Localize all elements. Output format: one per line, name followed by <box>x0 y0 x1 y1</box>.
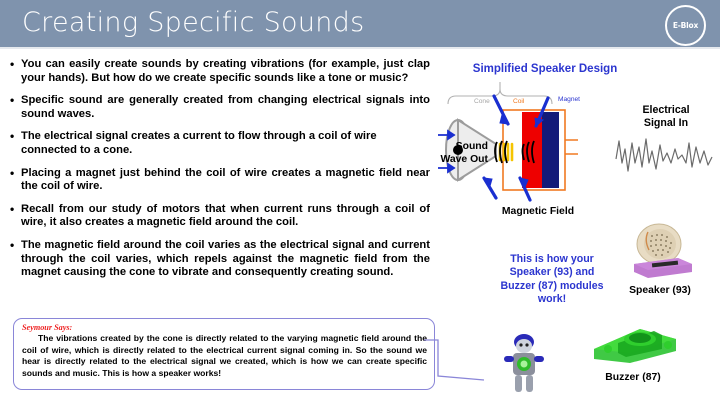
module-message-text: This is how your Speaker (93) and Buzzer… <box>494 253 610 307</box>
bullet-item: • Specific sound are generally created f… <box>10 94 430 121</box>
bullet-dot-icon: • <box>10 130 21 157</box>
electrical-signal-waveform <box>614 133 714 179</box>
magnet-blue-block <box>542 112 559 188</box>
callout-tail-icon <box>424 336 510 382</box>
bullet-dot-icon: • <box>10 167 21 194</box>
buzzer-module-photo <box>588 315 682 367</box>
bullet-dot-icon: • <box>10 203 21 230</box>
bullet-item: • The electrical signal creates a curren… <box>10 130 430 157</box>
seymour-says-title: Seymour Says: <box>22 323 427 332</box>
speaker-module-photo <box>622 222 696 280</box>
seymour-says-callout: Seymour Says: The vibrations created by … <box>13 318 435 390</box>
diagram-label-electrical-signal-in: Electrical Signal In <box>620 104 712 130</box>
bullet-item: • The magnetic field around the coil var… <box>10 239 430 280</box>
bullet-item: • You can easily create sounds by creati… <box>10 58 430 85</box>
diagram-label-magnetic-field: Magnetic Field <box>478 206 598 217</box>
eblox-logo: E-Blox <box>665 5 706 46</box>
seymour-robot-mascot <box>500 330 548 396</box>
diagram-label-magnet: Magnet <box>558 96 580 103</box>
bullet-dot-icon: • <box>10 239 21 280</box>
diagram-label-sound-wave-out: Sound Wave Out <box>432 141 488 166</box>
diagram-label-coil: Coil <box>513 98 524 105</box>
bullet-item: • Placing a magnet just behind the coil … <box>10 167 430 194</box>
diagram-label-cone: Cone <box>474 98 490 105</box>
slide-canvas: Creating Specific Sounds E-Blox • You ca… <box>0 0 720 405</box>
bullet-text: The magnetic field around the coil varie… <box>21 239 430 280</box>
diagram-title: Simplified Speaker Design <box>450 63 640 75</box>
bullet-text: You can easily create sounds by creating… <box>21 58 430 85</box>
speaker-module-label: Speaker (93) <box>608 285 712 296</box>
seymour-says-body: The vibrations created by the cone is di… <box>22 333 427 379</box>
span-bracket-icon <box>448 82 552 104</box>
page-title: Creating Specific Sounds <box>22 7 364 38</box>
bullet-dot-icon: • <box>10 58 21 85</box>
bullet-text: Specific sound are generally created fro… <box>21 94 430 121</box>
bullet-item: • Recall from our study of motors that w… <box>10 203 430 230</box>
eblox-logo-text: E-Blox <box>673 21 698 30</box>
bullet-text: Recall from our study of motors that whe… <box>21 203 430 230</box>
bullet-text: Placing a magnet just behind the coil of… <box>21 167 430 194</box>
bullet-text: The electrical signal creates a current … <box>21 130 430 157</box>
bullet-list: • You can easily create sounds by creati… <box>10 58 430 289</box>
buzzer-module-label: Buzzer (87) <box>578 372 688 383</box>
bullet-dot-icon: • <box>10 94 21 121</box>
